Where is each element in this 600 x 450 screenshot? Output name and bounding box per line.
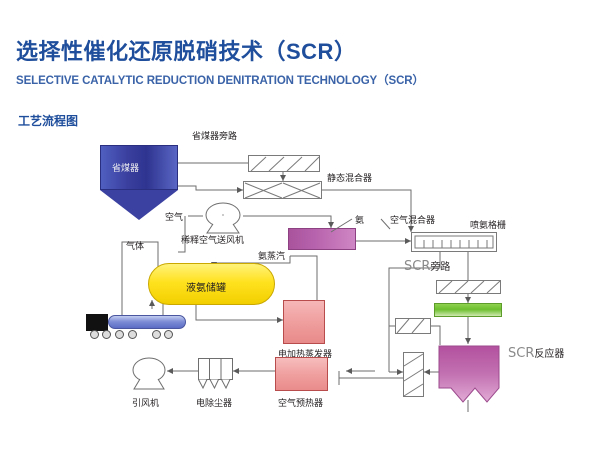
ammonia-injection-grid-label: 喷氨格栅	[470, 218, 506, 231]
ammonia-vapor-label: 氨蒸汽	[258, 249, 285, 262]
slide-canvas: 选择性催化还原脱硝技术（SCR） SELECTIVE CATALYTIC RED…	[0, 0, 600, 450]
catalyst-layer	[434, 303, 502, 317]
truck-wheel	[90, 330, 99, 339]
truck-wheel	[102, 330, 111, 339]
induced-draft-fan-label: 引风机	[132, 396, 159, 409]
truck-wheel	[152, 330, 161, 339]
scr-reactor-prefix: SCR	[508, 346, 534, 361]
truck-cab	[86, 314, 108, 331]
electric-heater-evaporator	[283, 300, 325, 344]
scr-bypass-suffix: 旁路	[430, 262, 450, 273]
liquid-ammonia-tank-label: 液氨储罐	[186, 279, 226, 294]
truck-wheel	[164, 330, 173, 339]
ammonia-label: 氨	[355, 213, 364, 226]
economizer-outlet-damper	[395, 318, 431, 334]
scr-bypass-prefix: SCR	[404, 259, 430, 274]
esp-label: 电除尘器	[196, 396, 232, 409]
ammonia-tanker-truck	[86, 312, 196, 340]
truck-wheel	[128, 330, 137, 339]
air-preheater-label: 空气预热器	[278, 396, 323, 409]
air-preheater	[275, 357, 328, 391]
electrostatic-precipitator	[198, 358, 233, 390]
scr-inlet-damper	[403, 352, 424, 397]
scr-reactor	[438, 345, 500, 403]
ammonia-injection-grid	[411, 232, 497, 252]
scr-bypass-label: SCR旁路	[404, 258, 450, 274]
process-flow-diagram: 省煤器 省煤器旁路 静态混合器	[0, 0, 600, 450]
truck-wheel	[115, 330, 124, 339]
ammonia-air-mixer-label: 空气混合器	[390, 213, 435, 226]
truck-tank	[108, 315, 186, 329]
scr-bypass-damper	[436, 280, 501, 294]
gas-label: 气体	[126, 239, 144, 252]
scr-reactor-suffix: 反应器	[534, 349, 564, 360]
induced-draft-fan-icon	[130, 357, 170, 389]
scr-reactor-label: SCR反应器	[508, 345, 564, 361]
